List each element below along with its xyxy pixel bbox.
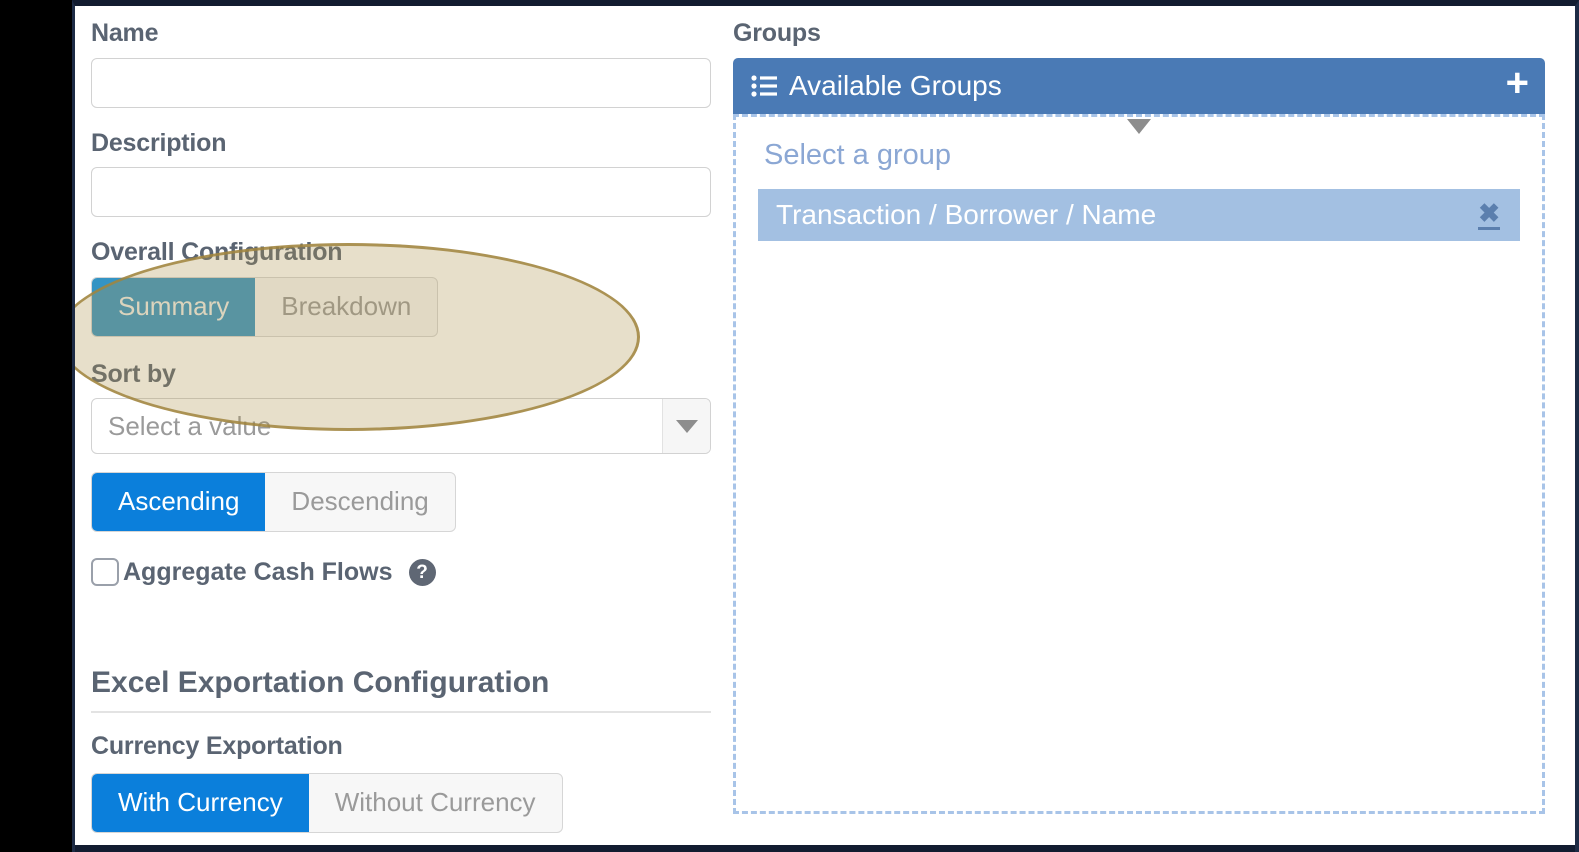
report-configuration-panel: Name Description Overall Configuration S… [72, 0, 1579, 852]
excel-exportation-heading: Excel Exportation Configuration [91, 666, 711, 713]
list-ul-icon [751, 75, 777, 97]
name-field-group: Name [91, 20, 711, 108]
breakdown-toggle-button[interactable]: Breakdown [255, 278, 437, 336]
available-groups-header-left: Available Groups [751, 72, 1002, 100]
overall-configuration-toggle[interactable]: Summary Breakdown [91, 277, 438, 337]
panel-bottom-border [75, 845, 1575, 852]
screen-background: Name Description Overall Configuration S… [0, 0, 1579, 852]
ascending-toggle-button[interactable]: Ascending [92, 473, 265, 531]
left-column: Name Description Overall Configuration S… [91, 20, 711, 833]
aggregate-cash-flows-label: Aggregate Cash Flows [123, 560, 393, 585]
description-label: Description [91, 130, 711, 158]
available-groups-title: Available Groups [789, 72, 1002, 100]
add-group-plus-icon[interactable]: + [1506, 69, 1529, 102]
currency-exportation-label: Currency Exportation [91, 733, 711, 761]
sort-direction-group: Ascending Descending [91, 472, 711, 532]
right-column: Groups Available Groups + [733, 20, 1545, 814]
sort-by-selected-value: Select a value [92, 413, 662, 439]
description-field-group: Description [91, 130, 711, 218]
groups-dropzone[interactable]: Select a group Transaction / Borrower / … [733, 114, 1545, 814]
excel-exportation-section: Excel Exportation Configuration Currency… [91, 666, 711, 833]
descending-toggle-button[interactable]: Descending [265, 473, 454, 531]
name-label: Name [91, 20, 711, 48]
aggregate-cash-flows-row: Aggregate Cash Flows ? [91, 558, 711, 586]
description-input[interactable] [91, 167, 711, 217]
sort-direction-toggle[interactable]: Ascending Descending [91, 472, 456, 532]
remove-group-close-icon[interactable]: ✖ [1478, 200, 1500, 230]
currency-exportation-toggle[interactable]: With Currency Without Currency [91, 773, 563, 833]
aggregate-cash-flows-checkbox[interactable] [91, 558, 119, 586]
group-chip-item[interactable]: Transaction / Borrower / Name ✖ [758, 189, 1520, 241]
overall-configuration-label: Overall Configuration [91, 239, 711, 267]
caret-down-icon [1127, 119, 1151, 134]
with-currency-toggle-button[interactable]: With Currency [92, 774, 309, 832]
name-input[interactable] [91, 58, 711, 108]
sort-by-label: Sort by [91, 361, 711, 389]
help-circle-icon[interactable]: ? [409, 559, 436, 586]
available-groups-header[interactable]: Available Groups + [733, 58, 1545, 114]
summary-toggle-button[interactable]: Summary [92, 278, 255, 336]
chevron-down-icon [676, 420, 698, 433]
groups-label: Groups [733, 20, 1545, 48]
group-chip-label: Transaction / Borrower / Name [776, 201, 1156, 229]
sort-by-dropdown-arrow[interactable] [662, 399, 710, 453]
sort-by-group: Sort by Select a value [91, 361, 711, 455]
overall-configuration-group: Overall Configuration Summary Breakdown [91, 239, 711, 337]
panel-inner: Name Description Overall Configuration S… [75, 6, 1575, 852]
without-currency-toggle-button[interactable]: Without Currency [309, 774, 562, 832]
sort-by-select[interactable]: Select a value [91, 398, 711, 454]
